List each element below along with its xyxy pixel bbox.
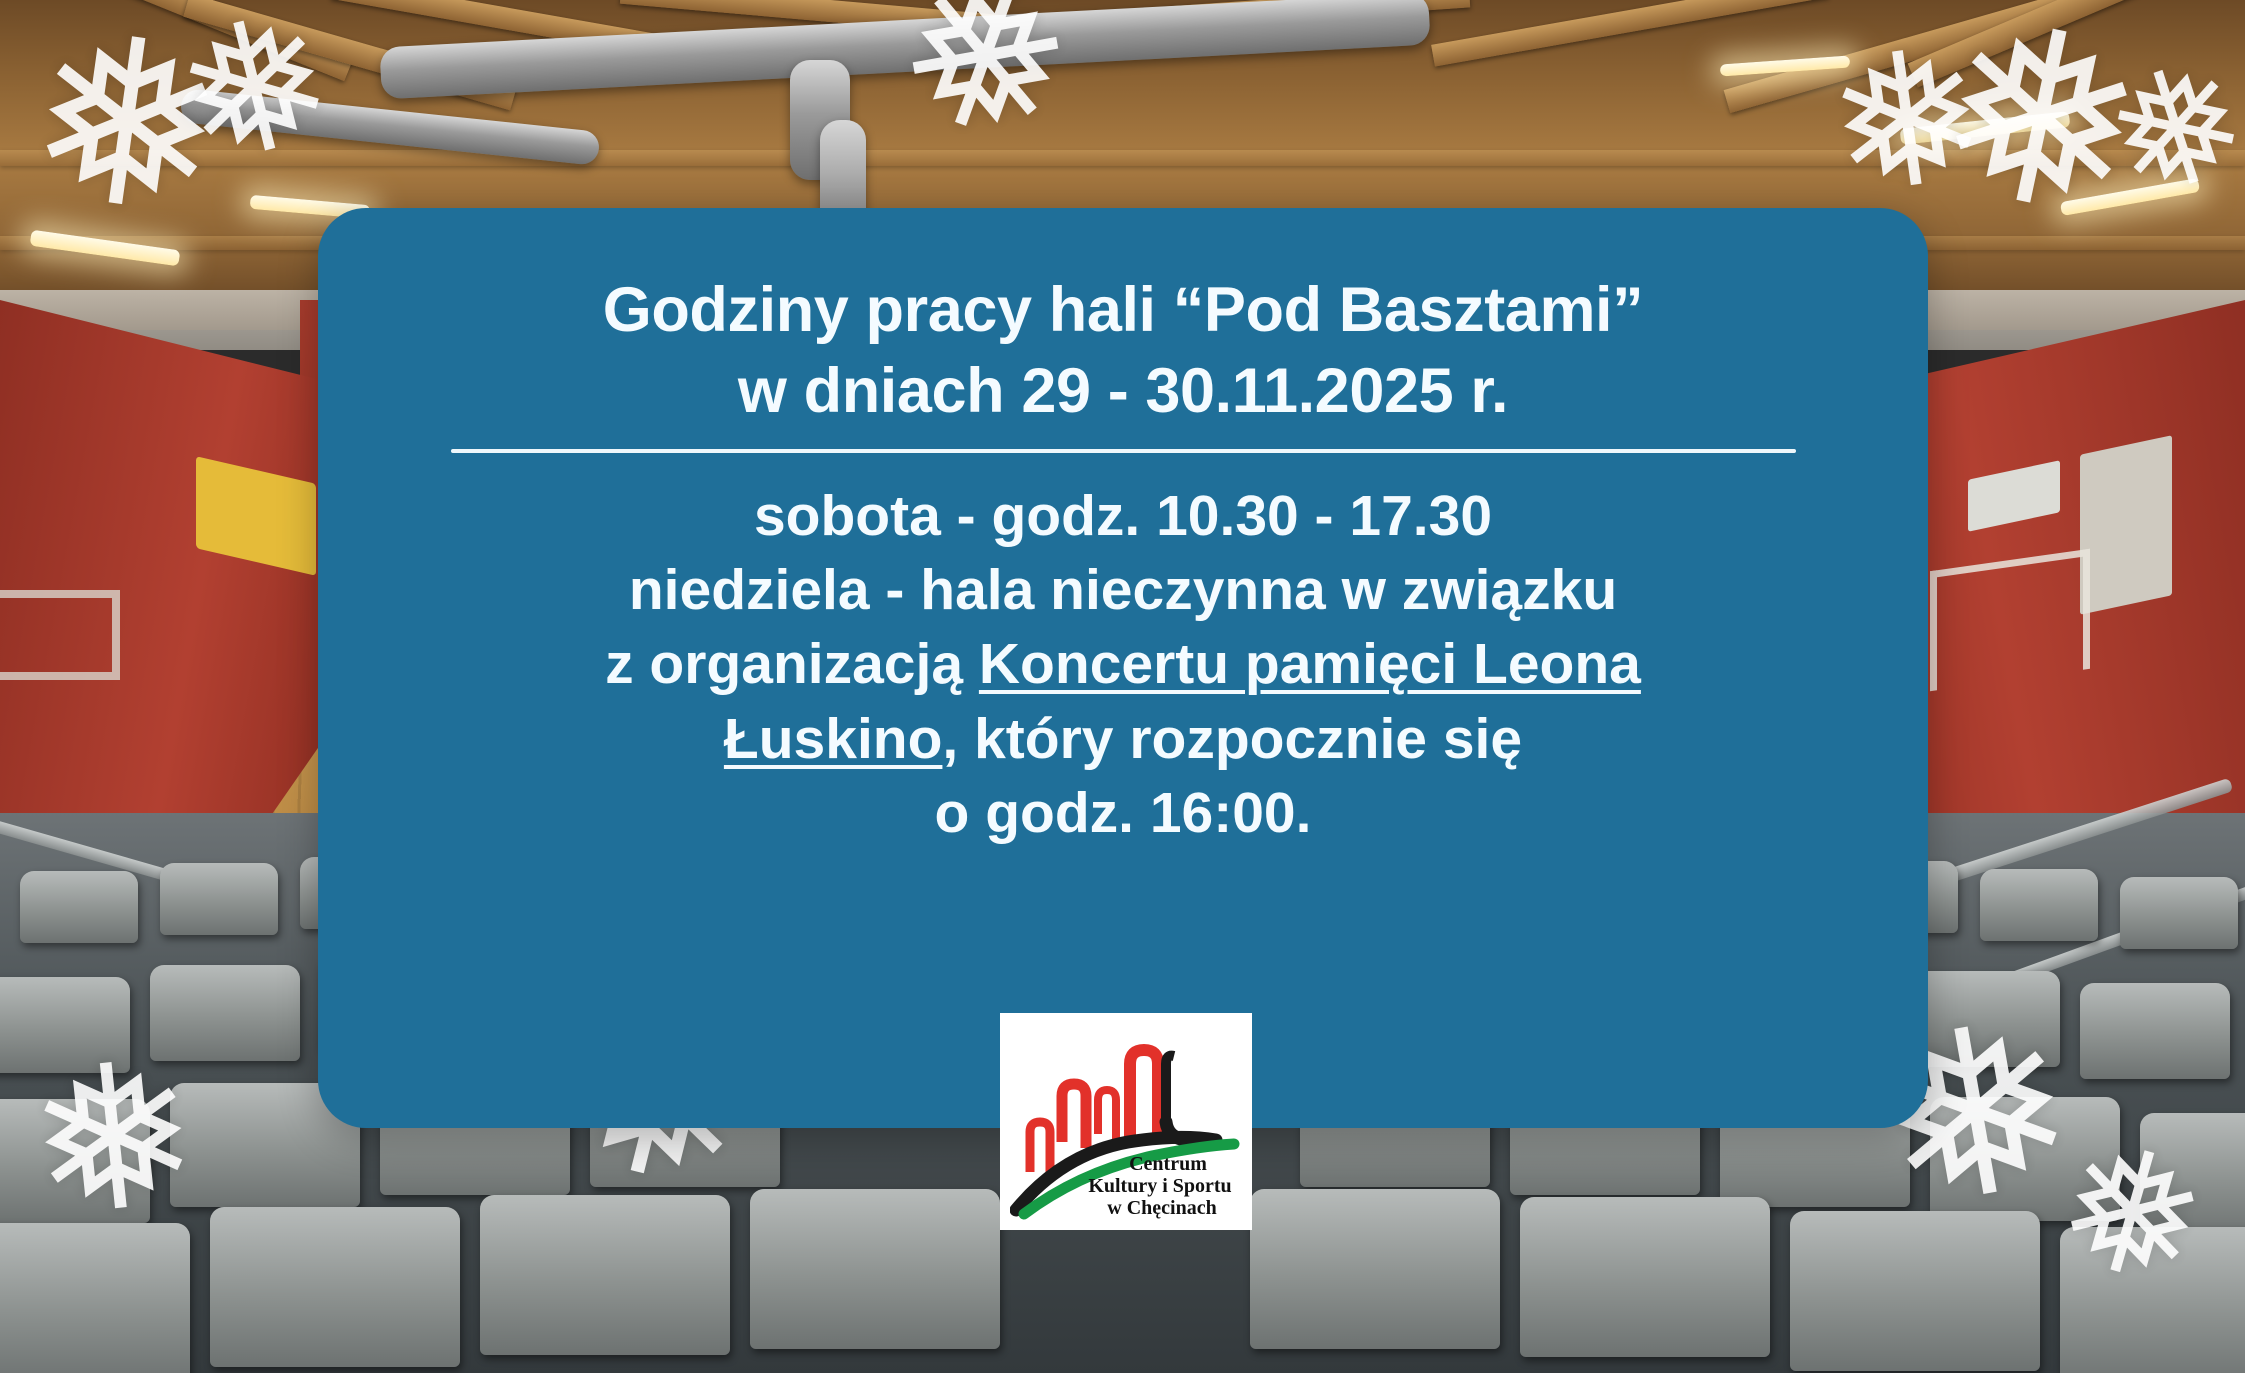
basketball-hoop [0, 590, 120, 680]
stadium-seat [1790, 1211, 2040, 1371]
body-line-luskino: Łuskino, który rozpocznie się [378, 702, 1868, 776]
stadium-seat [0, 977, 130, 1073]
stadium-seat [2140, 1113, 2245, 1237]
stadium-seat [1980, 869, 2098, 941]
card-title: Godziny pracy hali “Pod Basztami” w dnia… [378, 248, 1868, 431]
title-line-1: Godziny pracy hali “Pod Basztami” [378, 270, 1868, 351]
ckis-checiny-logo: Centrum Kultury i Sportu w Chęcinach [1000, 1013, 1252, 1230]
body-line-time: o godz. 16:00. [378, 776, 1868, 850]
body-line-saturday: sobota - godz. 10.30 - 17.30 [378, 479, 1868, 553]
stadium-seat [0, 1099, 150, 1223]
body-line-concert: z organizacją Koncertu pamięci Leona [378, 627, 1868, 701]
stadium-seat [20, 871, 138, 943]
logo-text-line-1: Centrum [1129, 1153, 1207, 1175]
body-line-luskino-rest: , który rozpocznie się [942, 707, 1522, 771]
stadium-seat [160, 863, 278, 935]
concert-link-part-2[interactable]: Łuskino [724, 707, 943, 771]
roof-beam [0, 150, 2245, 166]
concert-link-part-1[interactable]: Koncertu pamięci Leona [979, 632, 1641, 696]
stadium-seat [1930, 1097, 2120, 1221]
stadium-seat [750, 1189, 1000, 1349]
handball-goal [1930, 549, 2090, 691]
stadium-seat [2080, 983, 2230, 1079]
stadium-seat [480, 1195, 730, 1355]
hall-door [2080, 435, 2172, 615]
logo-graphic: Centrum Kultury i Sportu w Chęcinach [1010, 1022, 1242, 1222]
stadium-seat [1520, 1197, 1770, 1357]
info-card: Godziny pracy hali “Pod Basztami” w dnia… [318, 208, 1928, 1128]
body-line-concert-prefix: z organizacją [605, 632, 979, 696]
title-line-2: w dniach 29 - 30.11.2025 r. [378, 351, 1868, 432]
title-divider [451, 449, 1796, 453]
logo-text-line-2: Kultury i Sportu [1088, 1175, 1231, 1197]
stadium-seat [210, 1207, 460, 1367]
stadium-seat [150, 965, 300, 1061]
stadium-seat [2120, 877, 2238, 949]
stadium-seat [2060, 1227, 2245, 1373]
stadium-seat [0, 1223, 190, 1373]
stadium-seat [1910, 971, 2060, 1067]
body-line-sunday: niedziela - hala nieczynna w związku [378, 553, 1868, 627]
card-body: sobota - godz. 10.30 - 17.30 niedziela -… [378, 479, 1868, 849]
logo-text-line-3: w Chęcinach [1107, 1197, 1216, 1219]
stadium-seat [1250, 1189, 1500, 1349]
logo-tower-black [1166, 1055, 1210, 1139]
